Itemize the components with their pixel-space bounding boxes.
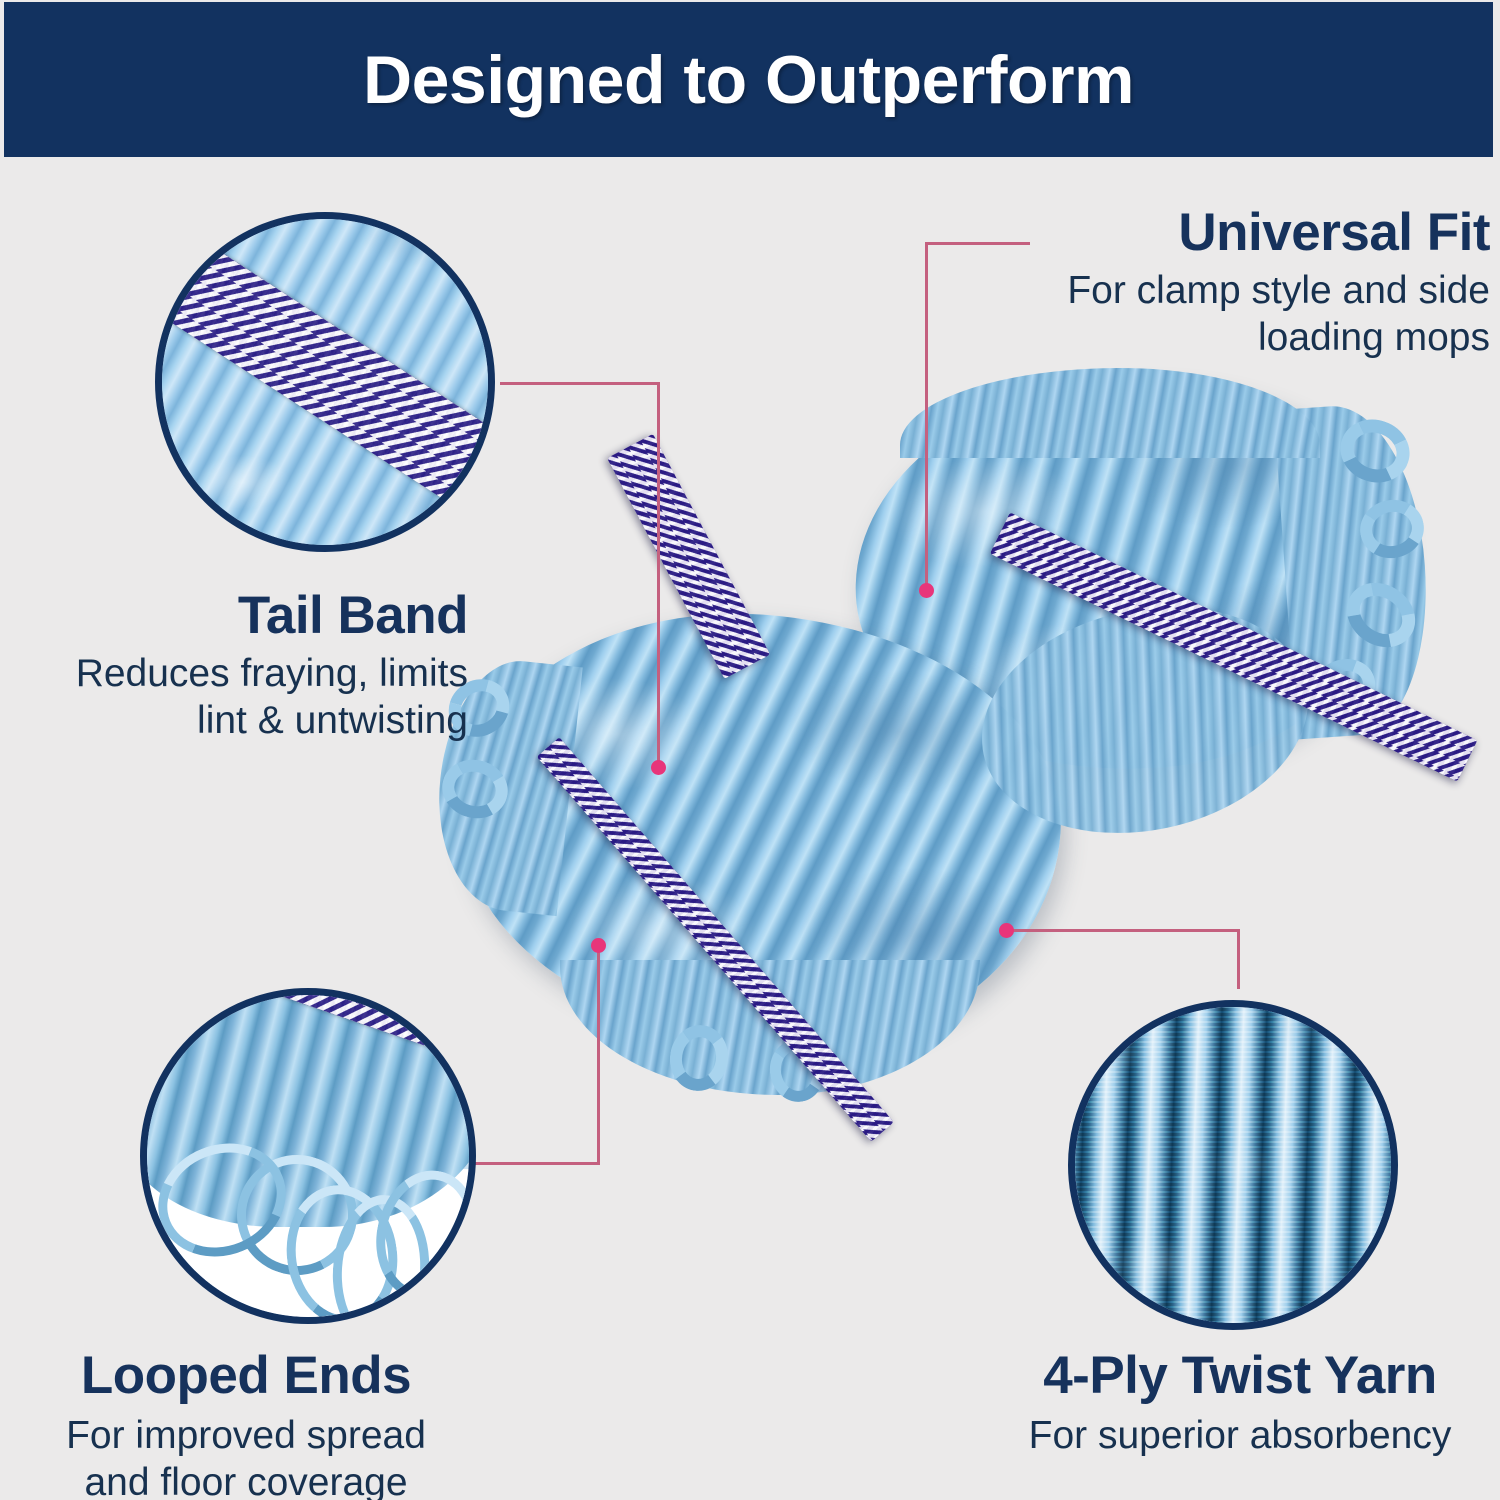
yarn-twist-closeup-photo-icon xyxy=(1068,1000,1398,1330)
connector-looped-ends-horizontal xyxy=(474,1162,600,1165)
yarn-closeup-inner xyxy=(1075,1007,1391,1323)
feature-desc-line: loading mops xyxy=(1010,314,1490,362)
feature-desc-line: For improved spread xyxy=(6,1412,486,1460)
feature-title-universal-fit: Universal Fit xyxy=(1010,205,1490,261)
connector-tail-band-vertical xyxy=(657,382,660,772)
feature-title-yarn: 4-Ply Twist Yarn xyxy=(985,1348,1495,1404)
connector-dot-looped-ends xyxy=(591,938,606,953)
feature-label-looped-ends: Looped Ends For improved spread and floo… xyxy=(6,1348,486,1500)
feature-title-tail-band: Tail Band xyxy=(0,588,468,644)
rope-shading xyxy=(1075,1007,1391,1323)
mop-fringe-top xyxy=(900,368,1320,458)
feature-title-looped-ends: Looped Ends xyxy=(6,1348,486,1404)
feature-desc-yarn: For superior absorbency xyxy=(985,1412,1495,1460)
connector-dot-tail-band xyxy=(651,760,666,775)
feature-desc-looped-ends: For improved spread and floor coverage xyxy=(6,1412,486,1500)
feature-desc-tail-band: Reduces fraying, limits lint & untwistin… xyxy=(0,650,468,745)
feature-desc-line: lint & untwisting xyxy=(0,697,468,745)
connector-dot-yarn xyxy=(999,923,1014,938)
connector-universal-fit-vertical xyxy=(925,242,928,592)
tail-band-closeup-photo-icon xyxy=(155,212,495,552)
tail-band-closeup-inner xyxy=(162,219,488,545)
feature-label-universal-fit: Universal Fit For clamp style and side l… xyxy=(1010,205,1490,362)
looped-ends-closeup-photo-icon xyxy=(140,988,476,1324)
connector-yarn-vertical xyxy=(1237,929,1240,989)
feature-desc-universal-fit: For clamp style and side loading mops xyxy=(1010,267,1490,362)
feature-desc-line: and floor coverage xyxy=(6,1459,486,1500)
feature-desc-line: Reduces fraying, limits xyxy=(0,650,468,698)
connector-looped-ends-vertical xyxy=(597,945,600,1165)
looped-ends-closeup-inner xyxy=(147,995,469,1317)
feature-label-tail-band: Tail Band Reduces fraying, limits lint &… xyxy=(0,588,468,745)
infographic-canvas: Designed to Outperform xyxy=(0,0,1500,1500)
feature-desc-line: For superior absorbency xyxy=(985,1412,1495,1460)
connector-yarn-horizontal xyxy=(1008,929,1240,932)
connector-dot-universal-fit xyxy=(919,583,934,598)
header-banner: Designed to Outperform xyxy=(4,2,1493,157)
connector-tail-band-horizontal xyxy=(500,382,660,385)
feature-desc-line: For clamp style and side xyxy=(1010,267,1490,315)
feature-label-yarn: 4-Ply Twist Yarn For superior absorbency xyxy=(985,1348,1495,1459)
page-title: Designed to Outperform xyxy=(363,46,1134,114)
